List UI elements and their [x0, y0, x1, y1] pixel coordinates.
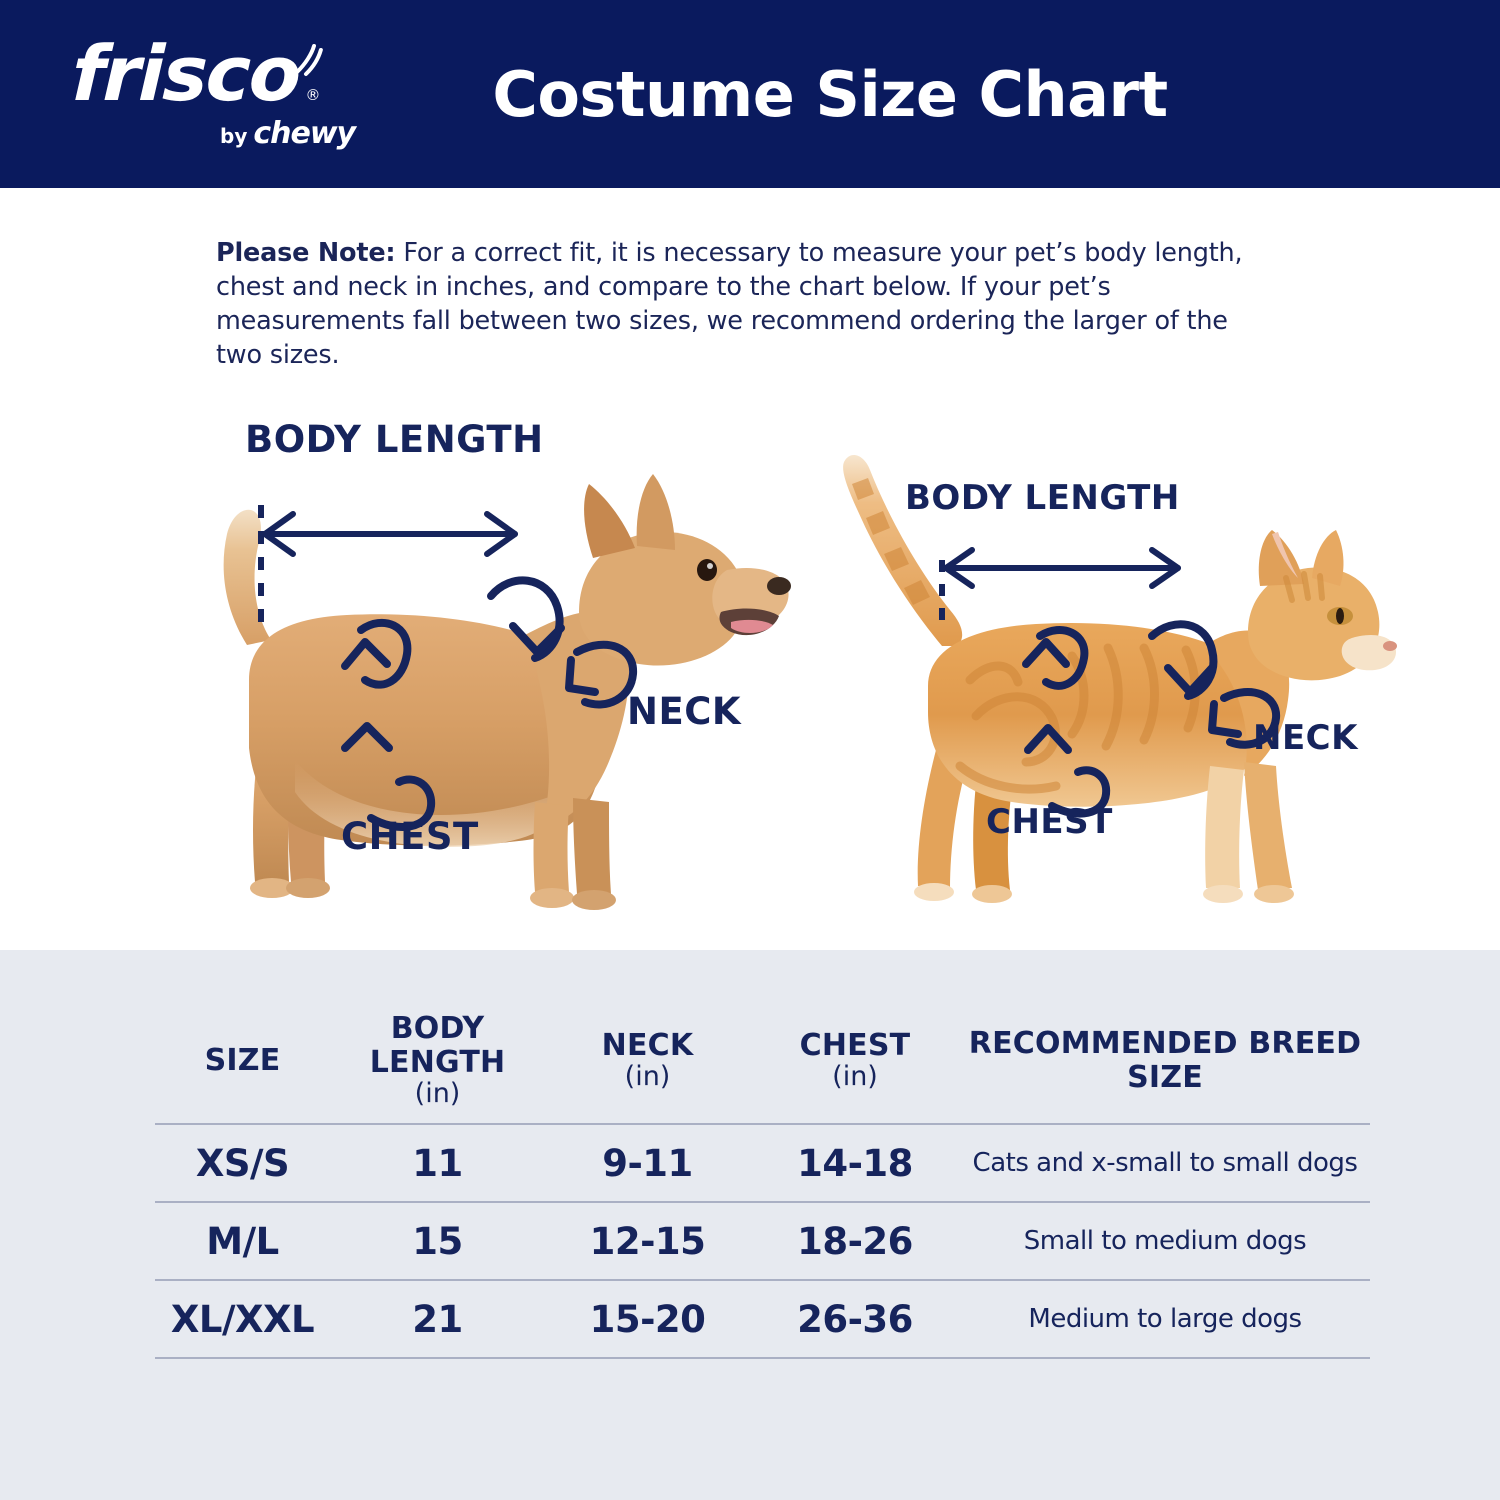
column-header-body-length: BODY LENGTH (in)	[330, 1012, 545, 1124]
cell-chest: 14-18	[750, 1124, 960, 1202]
cell-breed: Small to medium dogs	[960, 1202, 1370, 1280]
cat-body-length-arrow	[944, 550, 1178, 586]
dog-body-length-arrow	[263, 514, 515, 554]
cell-body-length: 11	[330, 1124, 545, 1202]
dog-body-length-label: BODY LENGTH	[245, 418, 544, 461]
column-header-body-length-text: BODY LENGTH	[370, 1011, 506, 1080]
column-header-breed: RECOMMENDED BREED SIZE	[960, 1012, 1370, 1124]
logo-subtitle: by chewy	[220, 116, 355, 151]
table-row: XS/S 11 9-11 14-18 Cats and x-small to s…	[155, 1124, 1370, 1202]
table-body: XS/S 11 9-11 14-18 Cats and x-small to s…	[155, 1124, 1370, 1358]
cat-chest-label: CHEST	[986, 802, 1113, 842]
cell-chest: 26-36	[750, 1280, 960, 1358]
cell-neck: 12-15	[545, 1202, 750, 1280]
cell-breed: Cats and x-small to small dogs	[960, 1124, 1370, 1202]
please-note-paragraph: Please Note: For a correct fit, it is ne…	[216, 236, 1251, 373]
cell-body-length: 21	[330, 1280, 545, 1358]
dog-chest-label: CHEST	[341, 815, 479, 858]
cell-size: M/L	[155, 1202, 330, 1280]
column-header-chest-unit: (in)	[750, 1062, 960, 1092]
cell-neck: 9-11	[545, 1124, 750, 1202]
cell-body-length: 15	[330, 1202, 545, 1280]
registered-trademark-icon: ®	[305, 88, 318, 102]
column-header-neck-text: NECK	[602, 1028, 694, 1063]
size-table-section: SIZE BODY LENGTH (in) NECK (in) CHEST (i…	[0, 950, 1500, 1500]
table-row: M/L 15 12-15 18-26 Small to medium dogs	[155, 1202, 1370, 1280]
logo-by-text: by	[220, 124, 247, 148]
cell-breed: Medium to large dogs	[960, 1280, 1370, 1358]
size-chart-table: SIZE BODY LENGTH (in) NECK (in) CHEST (i…	[155, 1012, 1370, 1359]
frisco-wordmark: frisco ®	[71, 38, 301, 110]
cat-neck-label: NECK	[1253, 718, 1358, 758]
column-header-neck-unit: (in)	[545, 1062, 750, 1092]
cell-size: XS/S	[155, 1124, 330, 1202]
cell-neck: 15-20	[545, 1280, 750, 1358]
table-header-row: SIZE BODY LENGTH (in) NECK (in) CHEST (i…	[155, 1012, 1370, 1124]
column-header-neck: NECK (in)	[545, 1012, 750, 1124]
cell-size: XL/XXL	[155, 1280, 330, 1358]
chewy-logo-text: chewy	[253, 116, 355, 151]
cat-body-length-label: BODY LENGTH	[905, 478, 1180, 518]
logo-swoosh-icon	[295, 44, 326, 78]
column-header-body-length-unit: (in)	[330, 1079, 545, 1109]
frisco-logo: frisco ® by chewy	[72, 38, 402, 158]
column-header-chest: CHEST (in)	[750, 1012, 960, 1124]
measurement-illustrations: BODY LENGTH NECK CHEST	[0, 400, 1500, 950]
frisco-logo-text: frisco	[70, 29, 300, 118]
dog-illustration	[175, 430, 795, 930]
column-header-chest-text: CHEST	[800, 1028, 911, 1063]
cat-illustration	[800, 450, 1400, 920]
page-header: frisco ® by chewy Costume Size Chart	[0, 0, 1500, 188]
column-header-size: SIZE	[155, 1012, 330, 1124]
costume-size-chart-page: frisco ® by chewy Costume Size Chart Ple…	[0, 0, 1500, 1500]
cell-chest: 18-26	[750, 1202, 960, 1280]
please-note-label: Please Note:	[216, 238, 395, 268]
column-header-size-text: SIZE	[205, 1043, 281, 1078]
dog-neck-label: NECK	[627, 690, 741, 733]
table-row: XL/XXL 21 15-20 26-36 Medium to large do…	[155, 1280, 1370, 1358]
column-header-breed-text: RECOMMENDED BREED SIZE	[969, 1026, 1361, 1095]
